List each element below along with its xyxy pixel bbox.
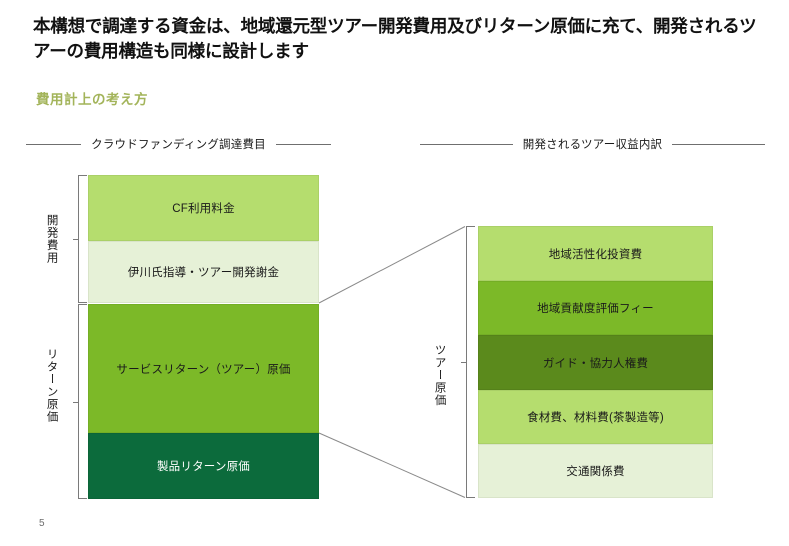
bracket-left-development bbox=[78, 175, 87, 303]
right-column-header-label: 開発されるツアー収益内訳 bbox=[513, 136, 672, 152]
bracket-nub bbox=[73, 239, 79, 240]
right-bar-revitalization-investment[interactable]: 地域活性化投資費 bbox=[478, 226, 713, 281]
bracket-left-return bbox=[78, 304, 87, 499]
right-bar-transportation-cost[interactable]: 交通関係費 bbox=[478, 444, 713, 498]
right-bar-guide-partner-labor-cost[interactable]: ガイド・協力人権費 bbox=[478, 335, 713, 390]
header-rule-left bbox=[420, 144, 513, 145]
left-group-label-development: 開発費用 bbox=[44, 199, 58, 279]
bracket-nub bbox=[73, 402, 79, 403]
bracket-nub bbox=[461, 362, 467, 363]
left-bar-label: CF利用料金 bbox=[172, 200, 235, 216]
left-bar-label: 伊川氏指導・ツアー開発謝金 bbox=[128, 264, 279, 280]
left-column-header-label: クラウドファンディング調達費目 bbox=[81, 136, 276, 152]
right-bar-label: 地域貢献度評価フィー bbox=[537, 300, 654, 316]
bracket-right-tour-cost bbox=[466, 226, 475, 498]
section-subtitle: 費用計上の考え方 bbox=[36, 88, 148, 108]
left-group-label-return: リターン原価 bbox=[44, 330, 58, 440]
page-title: 本構想で調達する資金は、地域還元型ツアー開発費用及びリターン原価に充て、開発され… bbox=[33, 14, 763, 64]
right-bar-label: 食材費、材料費(茶製造等) bbox=[527, 409, 664, 425]
page-number: 5 bbox=[39, 518, 45, 529]
left-bar-igawa-guidance-fee[interactable]: 伊川氏指導・ツアー開発謝金 bbox=[88, 241, 319, 303]
left-bar-product-return-cost[interactable]: 製品リターン原価 bbox=[88, 433, 319, 499]
header-rule-left bbox=[26, 144, 81, 145]
right-bar-contribution-evaluation-fee[interactable]: 地域貢献度評価フィー bbox=[478, 281, 713, 335]
right-bar-label: 交通関係費 bbox=[566, 463, 625, 479]
left-bar-label: サービスリターン（ツアー）原価 bbox=[116, 361, 290, 377]
right-bar-label: ガイド・協力人権費 bbox=[543, 355, 648, 371]
left-bar-label: 製品リターン原価 bbox=[157, 458, 250, 474]
header-rule-right bbox=[672, 144, 765, 145]
slide-canvas: 本構想で調達する資金は、地域還元型ツアー開発費用及びリターン原価に充て、開発され… bbox=[0, 0, 789, 546]
right-column-header: 開発されるツアー収益内訳 bbox=[420, 136, 765, 152]
header-rule-right bbox=[276, 144, 331, 145]
right-bar-label: 地域活性化投資費 bbox=[549, 246, 643, 262]
left-bar-service-return-cost[interactable]: サービスリターン（ツアー）原価 bbox=[88, 304, 319, 433]
left-bar-cf-fee[interactable]: CF利用料金 bbox=[88, 175, 319, 241]
right-group-label-tour-cost: ツアー原価 bbox=[432, 320, 446, 430]
left-column-header: クラウドファンディング調達費目 bbox=[26, 136, 331, 152]
right-bar-food-material-cost[interactable]: 食材費、材料費(茶製造等) bbox=[478, 390, 713, 444]
